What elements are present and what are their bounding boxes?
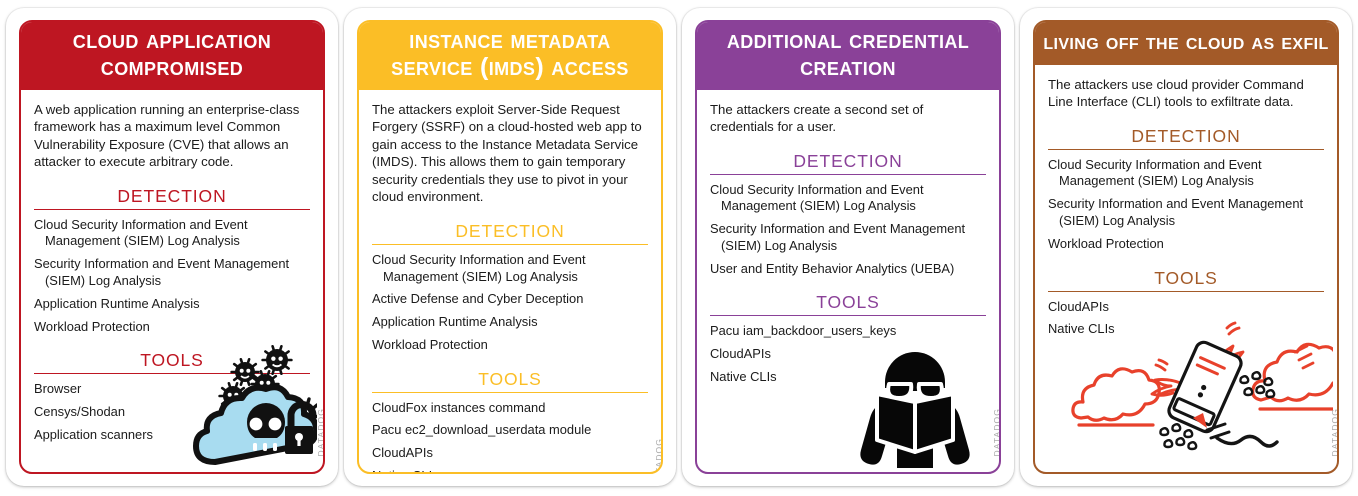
tools-rule — [34, 373, 310, 374]
detection-heading: DETECTION — [710, 151, 986, 172]
datadog-watermark: DATADOG — [316, 408, 325, 456]
tools-item: Application scanners — [34, 427, 310, 444]
card-body: The attackers create a second set of cre… — [697, 90, 999, 473]
detection-list: Cloud Security Information and Event Man… — [710, 182, 986, 284]
detection-item: Application Runtime Analysis — [34, 296, 310, 313]
detection-item: Security Information and Event Managemen… — [710, 221, 986, 255]
card-title: Additional Credential Creation — [695, 20, 1001, 90]
card-title: Living Off the Cloud as Exfil — [1033, 20, 1339, 65]
detection-heading: DETECTION — [1048, 126, 1324, 147]
tools-item: CloudAPIs — [372, 445, 648, 462]
card-panel: Cloud Application Compromised A web appl… — [19, 20, 325, 474]
card-summary: The attackers exploit Server-Side Reques… — [372, 101, 648, 206]
detection-item: Security Information and Event Managemen… — [34, 256, 310, 290]
tools-rule — [710, 315, 986, 316]
tools-item: Censys/Shodan — [34, 404, 310, 421]
card-summary: A web application running an enterprise-… — [34, 101, 310, 171]
tools-rule — [372, 392, 648, 393]
datadog-watermark: DATADOG — [1330, 408, 1339, 456]
detection-list: Cloud Security Information and Event Man… — [34, 217, 310, 342]
tools-item: Native CLIs — [372, 468, 648, 474]
detection-rule — [710, 174, 986, 175]
body-spacer — [1048, 344, 1324, 464]
tools-item: Pacu iam_backdoor_users_keys — [710, 323, 986, 340]
tools-list: BrowserCensys/ShodanApplication scanners — [34, 381, 310, 449]
detection-item: Cloud Security Information and Event Man… — [710, 182, 986, 216]
detection-item: User and Entity Behavior Analytics (UEBA… — [710, 261, 986, 278]
tools-rule — [1048, 291, 1324, 292]
detection-item: Security Information and Event Managemen… — [1048, 196, 1324, 230]
card-additional-credential-creation: Additional Credential Creation The attac… — [682, 8, 1014, 486]
tools-item: Native CLIs — [710, 369, 986, 386]
detection-item: Application Runtime Analysis — [372, 314, 648, 331]
detection-item: Workload Protection — [372, 337, 648, 354]
card-panel: Instance Metadata Service (IMDS) Access … — [357, 20, 663, 474]
tools-heading: TOOLS — [372, 369, 648, 390]
detection-item: Workload Protection — [34, 319, 310, 336]
card-cloud-application-compromised: Cloud Application Compromised A web appl… — [6, 8, 338, 486]
tools-item: CloudAPIs — [1048, 299, 1324, 316]
detection-item: Cloud Security Information and Event Man… — [372, 252, 648, 286]
tools-list: CloudFox instances commandPacu ec2_downl… — [372, 400, 648, 474]
detection-item: Active Defense and Cyber Deception — [372, 291, 648, 308]
card-instance-metadata-service-imds-access: Instance Metadata Service (IMDS) Access … — [344, 8, 676, 486]
card-panel: Additional Credential Creation The attac… — [695, 20, 1001, 474]
tools-list: Pacu iam_backdoor_users_keysCloudAPIsNat… — [710, 323, 986, 391]
tools-item: Browser — [34, 381, 310, 398]
card-deck: Cloud Application Compromised A web appl… — [0, 0, 1358, 496]
tools-heading: TOOLS — [34, 350, 310, 371]
detection-list: Cloud Security Information and Event Man… — [372, 252, 648, 360]
tools-item: Native CLIs — [1048, 321, 1324, 338]
detection-rule — [34, 209, 310, 210]
detection-list: Cloud Security Information and Event Man… — [1048, 157, 1324, 259]
card-title: Cloud Application Compromised — [19, 20, 325, 90]
detection-item: Cloud Security Information and Event Man… — [1048, 157, 1324, 191]
card-body: The attackers use cloud provider Command… — [1035, 65, 1337, 472]
detection-rule — [1048, 149, 1324, 150]
tools-heading: TOOLS — [710, 292, 986, 313]
detection-item: Workload Protection — [1048, 236, 1324, 253]
tools-heading: TOOLS — [1048, 268, 1324, 289]
detection-heading: DETECTION — [372, 221, 648, 242]
datadog-watermark: DATADOG — [654, 438, 663, 474]
datadog-watermark: DATADOG — [992, 408, 1001, 456]
card-summary: The attackers create a second set of cre… — [710, 101, 986, 136]
detection-item: Cloud Security Information and Event Man… — [34, 217, 310, 251]
tools-list: CloudAPIsNative CLIs — [1048, 299, 1324, 345]
detection-heading: DETECTION — [34, 186, 310, 207]
card-panel: Living Off the Cloud as Exfil The attack… — [1033, 20, 1339, 474]
card-body: A web application running an enterprise-… — [21, 90, 323, 473]
detection-rule — [372, 244, 648, 245]
body-spacer — [710, 392, 986, 464]
tools-item: Pacu ec2_download_userdata module — [372, 422, 648, 439]
body-spacer — [34, 450, 310, 464]
card-summary: The attackers use cloud provider Command… — [1048, 76, 1324, 111]
tools-item: CloudFox instances command — [372, 400, 648, 417]
card-body: The attackers exploit Server-Side Reques… — [359, 90, 661, 475]
card-living-off-the-cloud-as-exfil: Living Off the Cloud as Exfil The attack… — [1020, 8, 1352, 486]
tools-item: CloudAPIs — [710, 346, 986, 363]
card-title: Instance Metadata Service (IMDS) Access — [357, 20, 663, 90]
